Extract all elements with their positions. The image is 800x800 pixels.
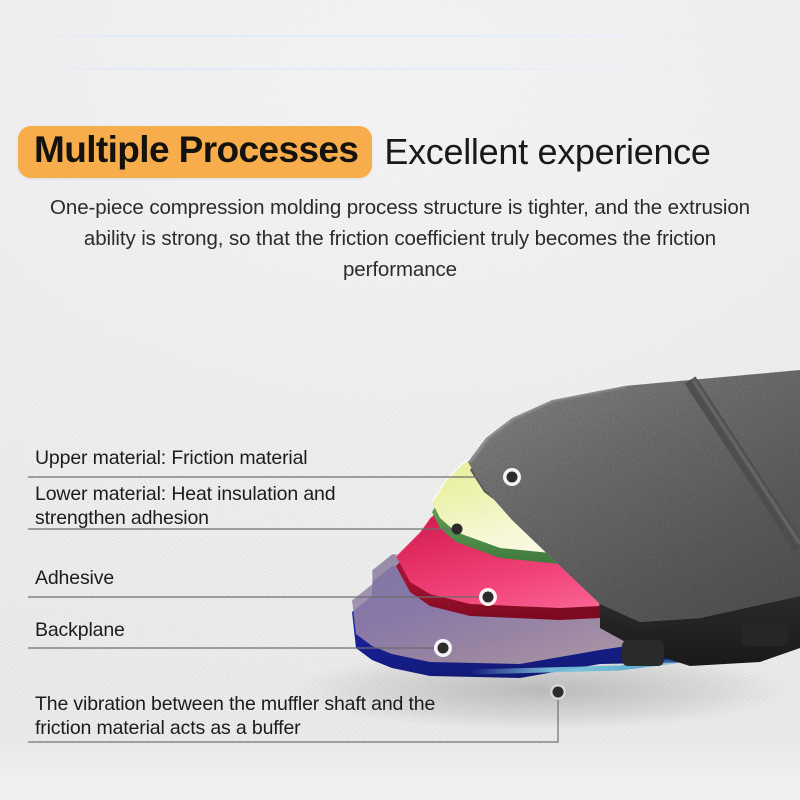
bottom-fade bbox=[0, 740, 800, 800]
callout-label-adhesive: Adhesive bbox=[35, 566, 114, 590]
callout-label-upper-material: Upper material: Friction material bbox=[35, 446, 307, 470]
callout-label-backplane: Backplane bbox=[35, 618, 125, 642]
headline-row: Multiple Processes Excellent experience bbox=[0, 126, 800, 178]
infographic-page: Multiple Processes Excellent experience … bbox=[0, 0, 800, 800]
callout-label-lower-material: Lower material: Heat insulation and stre… bbox=[35, 482, 335, 530]
headline-secondary: Excellent experience bbox=[384, 131, 710, 173]
callout-label-buffer-note: The vibration between the muffler shaft … bbox=[35, 692, 435, 740]
headline-badge: Multiple Processes bbox=[18, 126, 372, 178]
background-streak-1 bbox=[0, 35, 800, 37]
header-subtitle: One-piece compression molding process st… bbox=[50, 192, 750, 285]
header: Multiple Processes Excellent experience … bbox=[0, 126, 800, 285]
background-streak-2 bbox=[0, 68, 800, 70]
background-texture bbox=[0, 0, 800, 800]
